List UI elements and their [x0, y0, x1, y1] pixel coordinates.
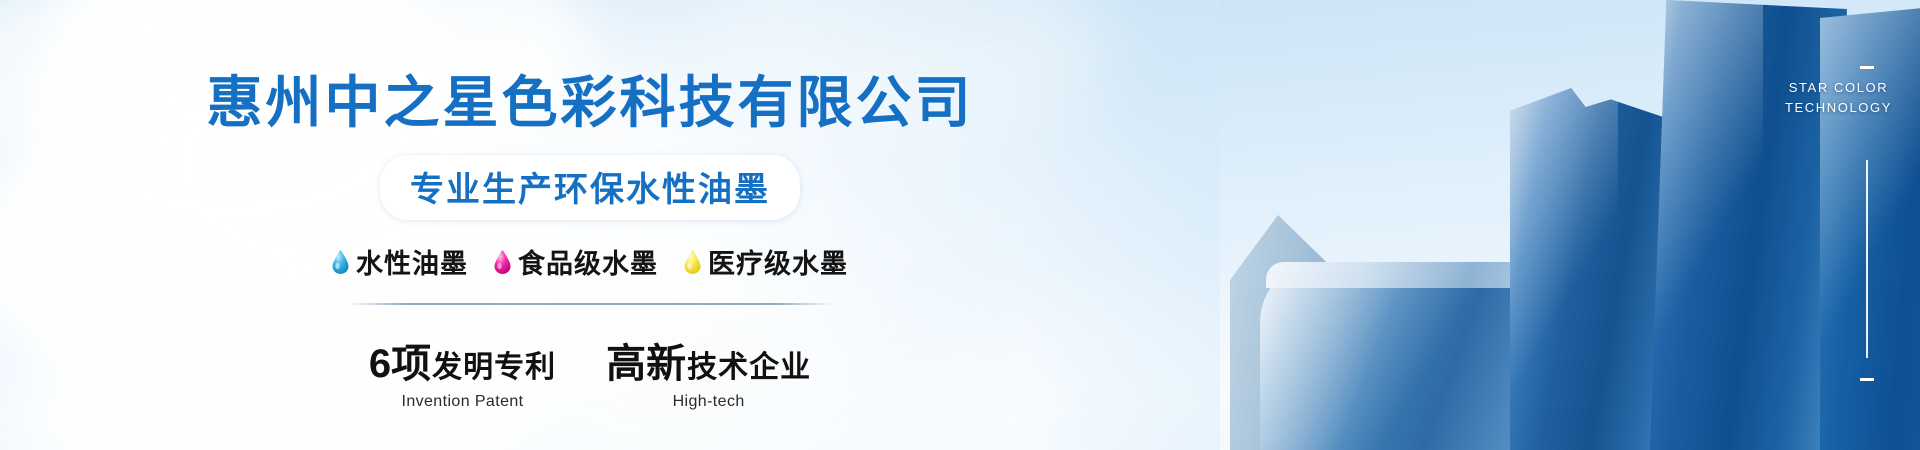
product-item: 水性油墨	[332, 242, 468, 281]
accent-tick-top	[1860, 66, 1874, 69]
credential-item: 6项 发明专利 Invention Patent	[369, 331, 556, 411]
credential-main: 高新 技术企业	[606, 331, 811, 389]
slogan-pill: 专业生产环保水性油墨	[380, 155, 800, 220]
section-divider	[347, 303, 833, 305]
product-list: 水性油墨 食品级水墨	[332, 242, 848, 281]
promo-banner: Star Color STAR COLOR TECHNOLOGY 惠州中之星色彩…	[0, 0, 1920, 450]
credential-rest: 发明专利	[432, 342, 556, 386]
building-brand-text: STAR COLOR TECHNOLOGY	[1785, 78, 1892, 118]
credential-rest: 技术企业	[687, 342, 811, 386]
product-item: 医疗级水墨	[684, 242, 848, 281]
credential-subtitle: High-tech	[673, 393, 745, 411]
slogan-text: 专业生产环保水性油墨	[410, 162, 770, 211]
credential-subtitle: Invention Patent	[401, 393, 523, 411]
credential-strong: 6项	[369, 331, 431, 389]
credential-item: 高新 技术企业 High-tech	[606, 331, 811, 411]
building-brand-line2: TECHNOLOGY	[1785, 98, 1892, 118]
credentials-list: 6项 发明专利 Invention Patent 高新 技术企业 High-te…	[369, 331, 811, 411]
credential-strong: 高新	[606, 331, 686, 389]
water-drop-icon	[494, 250, 511, 274]
product-item: 食品级水墨	[494, 242, 658, 281]
product-label: 水性油墨	[356, 242, 468, 281]
accent-vertical-line	[1866, 160, 1868, 358]
banner-content: 惠州中之星色彩科技有限公司 专业生产环保水性油墨 水性油墨	[0, 0, 1180, 450]
water-drop-icon	[684, 250, 701, 274]
skyscraper-photo: STAR COLOR TECHNOLOGY	[1220, 0, 1920, 450]
water-drop-icon	[332, 250, 349, 274]
building-brand-line1: STAR COLOR	[1785, 78, 1892, 98]
accent-tick-bottom	[1860, 378, 1874, 381]
product-label: 医疗级水墨	[708, 242, 848, 281]
company-title: 惠州中之星色彩科技有限公司	[207, 58, 974, 139]
product-label: 食品级水墨	[518, 242, 658, 281]
credential-main: 6项 发明专利	[369, 331, 556, 389]
